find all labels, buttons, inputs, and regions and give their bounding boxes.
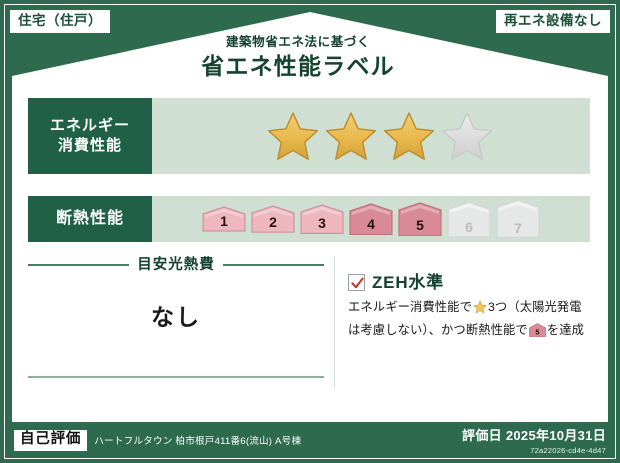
insulation-grade-1: 1 bbox=[201, 206, 247, 232]
inline-star-icon bbox=[473, 300, 487, 321]
grade-number: 5 bbox=[397, 218, 443, 232]
star-filled-icon bbox=[325, 110, 377, 162]
zeh-header: ZEH水準 bbox=[348, 274, 590, 291]
star-filled-icon bbox=[267, 110, 319, 162]
insulation-grade-4: 4 bbox=[348, 203, 394, 236]
insulation-grade-2: 2 bbox=[250, 205, 296, 233]
zeh-title: ZEH水準 bbox=[372, 274, 444, 291]
grade-number: 3 bbox=[299, 216, 345, 230]
zeh-checkbox[interactable] bbox=[348, 274, 365, 291]
title-block: 建築物省エネ法に基づく 省エネ性能ラベル bbox=[0, 36, 596, 81]
tag-building-type: 住宅（住戸） bbox=[10, 10, 110, 33]
zeh-desc-part1: エネルギー消費性能で bbox=[348, 300, 472, 314]
title-subtitle: 建築物省エネ法に基づく bbox=[0, 36, 596, 50]
evaluation-code: 72a22026-cd4e-4d47 bbox=[462, 446, 606, 455]
evaluation-date: 評価日 2025年10月31日 bbox=[462, 428, 606, 444]
legend-rule-right bbox=[223, 264, 324, 266]
energy-label-line2: 消費性能 bbox=[58, 137, 122, 154]
zeh-desc-part3: を達成 bbox=[547, 323, 584, 337]
svg-text:5: 5 bbox=[535, 327, 539, 336]
energy-label-line1: エネルギー bbox=[50, 117, 130, 134]
grade-number: 4 bbox=[348, 217, 394, 231]
legend-rule-left bbox=[28, 264, 129, 266]
zeh-desc-stars: 3つ（太陽光発電 bbox=[488, 300, 582, 314]
grade-number: 7 bbox=[495, 221, 541, 235]
utility-cost-panel: 目安光熱費 なし bbox=[28, 252, 324, 392]
self-evaluation-badge: 自己評価 bbox=[14, 430, 87, 451]
insulation-grade-7: 7 bbox=[495, 199, 541, 238]
insulation-performance-row: 断熱性能 1234567 bbox=[28, 196, 590, 242]
check-icon bbox=[350, 276, 365, 291]
property-address: ハートフルタウン 柏市根戸411番6(流山) A号棟 bbox=[94, 433, 301, 447]
star-empty-icon bbox=[441, 110, 493, 162]
footer-left: 自己評価 ハートフルタウン 柏市根戸411番6(流山) A号棟 bbox=[14, 430, 301, 451]
energy-performance-label-block: エネルギー 消費性能 bbox=[28, 98, 152, 174]
footer-right: 評価日 2025年10月31日 72a22026-cd4e-4d47 bbox=[462, 428, 606, 455]
panel-divider bbox=[334, 256, 335, 388]
zeh-description: エネルギー消費性能で3つ（太陽光発電は考慮しない）、かつ断熱性能で5を達成 bbox=[348, 298, 590, 344]
insulation-performance-label-block: 断熱性能 bbox=[28, 196, 152, 242]
insulation-grade-3: 3 bbox=[299, 204, 345, 234]
zeh-desc-part2: は考慮しない）、かつ断熱性能で bbox=[348, 323, 528, 337]
energy-performance-label: 住宅（住戸） 再エネ設備なし 建築物省エネ法に基づく 省エネ性能ラベル エネルギ… bbox=[0, 0, 620, 463]
insulation-grade-scale: 1234567 bbox=[152, 196, 590, 242]
footer: 自己評価 ハートフルタウン 柏市根戸411番6(流山) A号棟 評価日 2025… bbox=[0, 424, 620, 463]
grade-number: 1 bbox=[201, 214, 247, 228]
utility-cost-legend-label: 目安光熱費 bbox=[129, 258, 223, 273]
star-rating bbox=[152, 98, 590, 174]
zeh-panel: ZEH水準 エネルギー消費性能で3つ（太陽光発電は考慮しない）、かつ断熱性能で5… bbox=[348, 274, 590, 344]
insulation-grade-6: 6 bbox=[446, 201, 492, 238]
grade-number: 2 bbox=[250, 215, 296, 229]
energy-performance-row: エネルギー 消費性能 bbox=[28, 98, 590, 174]
inline-grade-badge: 5 bbox=[529, 323, 546, 344]
utility-cost-legend: 目安光熱費 bbox=[28, 258, 324, 273]
lower-section: 目安光熱費 なし ZEH水準 エネルギー消費性能で3つ（太陽光発電は考慮しない）… bbox=[28, 252, 590, 392]
grade-number: 6 bbox=[446, 220, 492, 234]
insulation-grade-5: 5 bbox=[397, 202, 443, 237]
utility-cost-value: なし bbox=[28, 298, 324, 332]
page-title: 省エネ性能ラベル bbox=[0, 52, 596, 81]
star-filled-icon bbox=[383, 110, 435, 162]
utility-cost-bottom-rule bbox=[28, 376, 324, 378]
tag-renewable-energy: 再エネ設備なし bbox=[496, 10, 610, 33]
